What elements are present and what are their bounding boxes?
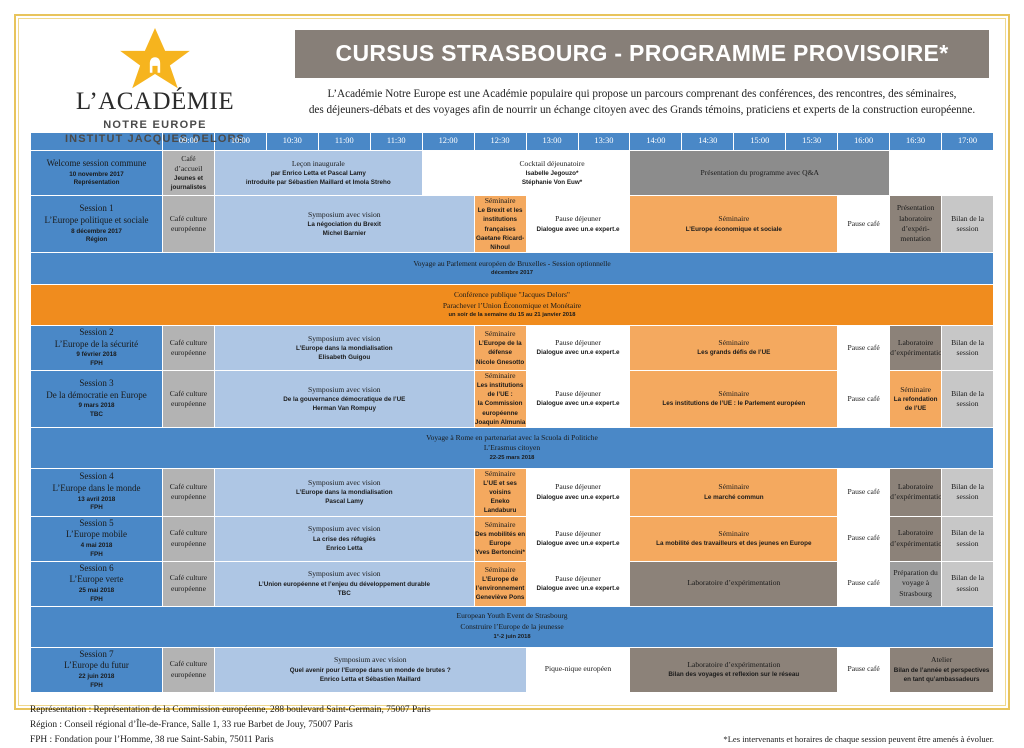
session-date: 9 février 2018	[31, 350, 162, 359]
activity-text-line: Pause déjeuner	[527, 574, 630, 584]
session-date: 8 décembre 2017	[31, 227, 162, 236]
activity-text-line: Symposium avec vision	[215, 385, 474, 395]
session-number: Session 5	[31, 518, 162, 530]
session-theme: L’Europe du futur	[31, 660, 162, 672]
activity-cell[interactable]: Café cultureeuropéenne	[163, 196, 215, 253]
activity-text-line: Préparation du voyage à	[890, 568, 941, 589]
activity-cell[interactable]: Leçon inauguralepar Enrico Letta et Pasc…	[214, 151, 422, 196]
activity-cell[interactable]: Présentationlaboratoired’expéri-mentatio…	[890, 196, 942, 253]
activity-cell[interactable]: Symposium avec visionL’Europe dans la mo…	[214, 325, 474, 370]
activity-text-line: européenne	[163, 348, 214, 358]
footer-line-3: FPH : Fondation pour l’Homme, 38 rue Sai…	[30, 733, 431, 748]
activity-text-line: L’Europe économique et sociale	[630, 225, 837, 234]
activity-text-line: Pause café	[838, 578, 889, 588]
banner-text-line: European Youth Event de Strasbourg	[31, 611, 993, 622]
session-number: Session 7	[31, 649, 162, 661]
activity-cell[interactable]: Laboratoired’expérimentation	[890, 468, 942, 516]
activity-text-line: européenne	[163, 492, 214, 502]
activity-text-line: Pause déjeuner	[527, 482, 630, 492]
activity-cell[interactable]: Présentation du programme avec Q&A	[630, 151, 890, 196]
activity-cell[interactable]: Pique-nique européen	[526, 647, 630, 692]
activity-text-line: Dialogue avec un.e expert.e	[527, 584, 630, 593]
footer-line-2: Région : Conseil régional d’Île-de-Franc…	[30, 718, 431, 733]
activity-text-line: Nicole Gnesotto	[475, 358, 526, 367]
activity-cell[interactable]: SéminaireL’Europe de la défenseNicole Gn…	[474, 325, 526, 370]
activity-text-line: TBC	[215, 589, 474, 598]
activity-text-line: Dialogue avec un.e expert.e	[527, 399, 630, 408]
activity-text-line: Le marché commun	[630, 493, 837, 502]
activity-text-line: Séminaire	[475, 469, 526, 479]
session-header-cell[interactable]: Session 7L’Europe du futur22 juin 2018FP…	[31, 647, 163, 692]
activity-text-line: Café culture	[163, 214, 214, 224]
activity-text-line: mentation	[890, 234, 941, 244]
activity-text-line: Des mobilités en Europe	[475, 530, 526, 548]
session-venue: Représentation	[31, 179, 162, 188]
banner-cell: European Youth Event de StrasbourgConstr…	[31, 606, 994, 647]
activity-text-line: Geneviève Pons	[475, 593, 526, 602]
activity-text-line: introduite par Sébastien Maillard et Imo…	[215, 178, 422, 187]
activity-text-line: Eneko Landaburu	[475, 497, 526, 515]
activity-cell[interactable]: Laboratoire d’expérimentationBilan des v…	[630, 647, 838, 692]
empty-cell	[890, 151, 994, 196]
activity-text-line: Séminaire	[630, 482, 837, 492]
activity-cell[interactable]: Café cultureeuropéenne	[163, 647, 215, 692]
activity-cell[interactable]: Symposium avec visionLa crise des réfugi…	[214, 516, 474, 561]
banner-text-line: Parachever l’Union Économique et Monétai…	[31, 301, 993, 312]
banner-text-line: 1°-2 juin 2018	[31, 633, 993, 642]
time-slot-header: 16:00	[838, 133, 890, 151]
activity-text-line: Bilan des voyages et reflexion sur le ré…	[630, 670, 837, 679]
activity-cell[interactable]: SéminaireDes mobilités en EuropeYves Ber…	[474, 516, 526, 561]
activity-text-line: Séminaire	[890, 385, 941, 395]
schedule-session-row: Session 5L’Europe mobile4 mai 2018FPHCaf…	[31, 516, 994, 561]
activity-cell[interactable]: SéminaireLa mobilité des travailleurs et…	[630, 516, 838, 561]
activity-text-line: Symposium avec vision	[215, 524, 474, 534]
activity-cell[interactable]: Pause déjeunerDialogue avec un.e expert.…	[526, 561, 630, 606]
session-date: 22 juin 2018	[31, 672, 162, 681]
activity-text-line: Pause déjeuner	[527, 214, 630, 224]
session-number: Session 4	[31, 471, 162, 483]
activity-text-line: Pascal Lamy	[215, 497, 474, 506]
activity-text-line: Pause café	[838, 343, 889, 353]
banner-text-line: décembre 2017	[31, 269, 993, 278]
intro-line-1: L’Académie Notre Europe est une Académie…	[300, 87, 984, 103]
schedule-session-row: Welcome session commune10 novembre 2017R…	[31, 151, 994, 196]
activity-text-line: Les grands défis de l’UE	[630, 348, 837, 357]
activity-text-line: la Commission européenne	[475, 399, 526, 417]
session-header-cell[interactable]: Session 5L’Europe mobile4 mai 2018FPH	[31, 516, 163, 561]
banner-text-line: Construire l’Europe de la jeunesse	[31, 622, 993, 633]
activity-text-line: d’expérimentation	[890, 348, 941, 358]
activity-cell[interactable]: Café cultureeuropéenne	[163, 561, 215, 606]
banner-cell: Conférence publique "Jacques Delors"Para…	[31, 284, 994, 325]
activity-text-line: La crise des réfugiés	[215, 535, 474, 544]
header-right: CURSUS STRASBOURG - PROGRAMME PROVISOIRE…	[280, 26, 994, 119]
time-slot-header: 12:30	[474, 133, 526, 151]
activity-text-line: Séminaire	[475, 371, 526, 381]
activity-cell[interactable]: Symposium avec visionDe la gouvernance d…	[214, 370, 474, 427]
session-header-cell[interactable]: Session 6L’Europe verte25 mai 2018FPH	[31, 561, 163, 606]
schedule-banner-row: Voyage à Rome en partenariat avec la Scu…	[31, 427, 994, 468]
activity-cell[interactable]: Café cultureeuropéenne	[163, 325, 215, 370]
session-date: 13 avril 2018	[31, 495, 162, 504]
activity-cell[interactable]: Pause déjeunerDialogue avec un.e expert.…	[526, 370, 630, 427]
footer-disclaimer: *Les intervenants et horaires de chaque …	[723, 733, 994, 748]
activity-text-line: L’Union européenne et l’enjeu du dévelop…	[215, 580, 474, 589]
activity-cell[interactable]: Laboratoired’expérimentation	[890, 325, 942, 370]
time-slot-header: 12:00	[422, 133, 474, 151]
activity-text-line: Dialogue avec un.e expert.e	[527, 493, 630, 502]
session-header-cell[interactable]: Session 2L’Europe de la sécurité9 févrie…	[31, 325, 163, 370]
activity-text-line: Bilan de la	[942, 573, 993, 583]
activity-text-line: Joaquin Almunia	[475, 418, 526, 427]
page-header: L’ACADÉMIE NOTRE EUROPE INSTITUT JACQUES…	[30, 26, 994, 126]
activity-text-line: Bilan de la	[942, 338, 993, 348]
banner-cell: Voyage à Rome en partenariat avec la Scu…	[31, 427, 994, 468]
activity-text-line: session	[942, 539, 993, 549]
banner-text-line: Voyage au Parlement européen de Bruxelle…	[31, 259, 993, 270]
activity-cell[interactable]: Café cultureeuropéenne	[163, 516, 215, 561]
session-header-cell[interactable]: Welcome session commune10 novembre 2017R…	[31, 151, 163, 196]
activity-text-line: Séminaire	[630, 529, 837, 539]
activity-cell[interactable]: Café cultureeuropéenne	[163, 370, 215, 427]
activity-cell[interactable]: Pause déjeunerDialogue avec un.e expert.…	[526, 516, 630, 561]
time-slot-header: 15:30	[786, 133, 838, 151]
banner-text-line: un soir de la semaine du 15 au 21 janvie…	[31, 311, 993, 320]
logo-subtitle-1: NOTRE EUROPE	[30, 119, 280, 131]
activity-text-line: européenne	[163, 584, 214, 594]
activity-text-line: La négociation du Brexit	[215, 220, 474, 229]
activity-text-line: Jeunes et	[163, 174, 214, 183]
activity-text-line: Dialogue avec un.e expert.e	[527, 225, 630, 234]
activity-cell[interactable]: Café cultureeuropéenne	[163, 468, 215, 516]
schedule-body: Welcome session commune10 novembre 2017R…	[31, 151, 994, 693]
activity-text-line: européenne	[163, 539, 214, 549]
activity-text-line: Bilan de la	[942, 214, 993, 224]
footer-line-1: Représentation : Représentation de la Co…	[30, 703, 431, 718]
activity-text-line: par Enrico Letta et Pascal Lamy	[215, 169, 422, 178]
activity-cell[interactable]: Caféd’accueilJeunes etjournalistes	[163, 151, 215, 196]
session-theme: L’Europe politique et sociale	[31, 215, 162, 227]
activity-text-line: européenne	[163, 224, 214, 234]
activity-text-line: Bilan de la	[942, 528, 993, 538]
activity-cell[interactable]: SéminaireLe Brexit et les institutionsfr…	[474, 196, 526, 253]
activity-text-line: La refondation de l’UE	[890, 395, 941, 413]
activity-cell[interactable]: AtelierBilan de l’année et perspectivese…	[890, 647, 994, 692]
activity-cell[interactable]: Pause café	[838, 325, 890, 370]
activity-text-line: Pique-nique européen	[527, 664, 630, 674]
activity-text-line: d’accueil	[163, 164, 214, 174]
activity-text-line: Stéphanie Von Euw*	[475, 178, 630, 187]
activity-text-line: L’Europe dans la mondialisation	[215, 488, 474, 497]
activity-cell[interactable]: Laboratoire d’expérimentation	[630, 561, 838, 606]
session-venue: FPH	[31, 504, 162, 513]
schedule-session-row: Session 2L’Europe de la sécurité9 févrie…	[31, 325, 994, 370]
activity-text-line: Séminaire	[475, 565, 526, 575]
activity-text-line: Séminaire	[630, 338, 837, 348]
activity-text-line: Laboratoire	[890, 482, 941, 492]
activity-text-line: Symposium avec vision	[215, 334, 474, 344]
activity-text-line: françaises	[475, 225, 526, 234]
activity-text-line: d’expérimentation	[890, 492, 941, 502]
page-footer: Représentation : Représentation de la Co…	[30, 703, 994, 748]
time-slot-header: 15:00	[734, 133, 786, 151]
activity-text-line: Leçon inaugurale	[215, 159, 422, 169]
activity-text-line: Pause déjeuner	[527, 338, 630, 348]
activity-text-line: Enrico Letta	[215, 544, 474, 553]
activity-text-line: Elisabeth Guigou	[215, 353, 474, 362]
intro-paragraph: L’Académie Notre Europe est une Académie…	[290, 87, 994, 119]
session-header-cell[interactable]: Session 4L’Europe dans le monde13 avril …	[31, 468, 163, 516]
activity-text-line: Présentation du programme avec Q&A	[630, 168, 889, 178]
activity-text-line: Séminaire	[630, 389, 837, 399]
session-date: 10 novembre 2017	[31, 170, 162, 179]
activity-text-line: d’expéri-	[890, 224, 941, 234]
activity-text-line: Café culture	[163, 573, 214, 583]
activity-text-line: Présentation	[890, 203, 941, 213]
schedule-session-row: Session 6L’Europe verte25 mai 2018FPHCaf…	[31, 561, 994, 606]
activity-cell[interactable]: Pause café	[838, 196, 890, 253]
activity-text-line: session	[942, 224, 993, 234]
activity-text-line: Symposium avec vision	[215, 655, 526, 665]
activity-text-line: Symposium avec vision	[215, 569, 474, 579]
activity-text-line: Enrico Letta et Sébastien Maillard	[215, 675, 526, 684]
schedule-session-row: Session 4L’Europe dans le monde13 avril …	[31, 468, 994, 516]
activity-text-line: Symposium avec vision	[215, 478, 474, 488]
activity-text-line: Dialogue avec un.e expert.e	[527, 348, 630, 357]
activity-text-line: La mobilité des travailleurs et des jeun…	[630, 539, 837, 548]
activity-text-line: Séminaire	[475, 196, 526, 206]
session-date: 9 mars 2018	[31, 401, 162, 410]
activity-cell[interactable]: Bilan de lasession	[942, 196, 994, 253]
activity-cell[interactable]: Bilan de lasession	[942, 370, 994, 427]
activity-cell[interactable]: SéminaireL’UE et ses voisinsEneko Landab…	[474, 468, 526, 516]
time-slot-header: 14:00	[630, 133, 682, 151]
activity-text-line: Bilan de l’année et perspectives	[890, 666, 993, 675]
activity-text-line: Les institutions de l’UE :	[475, 381, 526, 399]
activity-text-line: laboratoire	[890, 214, 941, 224]
session-venue: FPH	[31, 360, 162, 369]
activity-text-line: L’UE et ses voisins	[475, 479, 526, 497]
activity-cell[interactable]: Pause déjeunerDialogue avec un.e expert.…	[526, 325, 630, 370]
activity-cell[interactable]: Pause café	[838, 370, 890, 427]
activity-cell[interactable]: SéminaireLes grands défis de l’UE	[630, 325, 838, 370]
time-slot-header: 17:00	[942, 133, 994, 151]
activity-text-line: Pause café	[838, 487, 889, 497]
schedule-session-row: Session 7L’Europe du futur22 juin 2018FP…	[31, 647, 994, 692]
activity-text-line: L’Europe de l’environnement	[475, 575, 526, 593]
activity-text-line: Le Brexit et les institutions	[475, 206, 526, 224]
banner-cell: Voyage au Parlement européen de Bruxelle…	[31, 252, 994, 284]
activity-text-line: Michel Barnier	[215, 229, 474, 238]
session-theme: L’Europe dans le monde	[31, 483, 162, 495]
page-title: CURSUS STRASBOURG - PROGRAMME PROVISOIRE…	[295, 30, 989, 78]
activity-text-line: Pause déjeuner	[527, 529, 630, 539]
session-theme: De la démocratie en Europe	[31, 390, 162, 402]
session-number: Session 1	[31, 203, 162, 215]
activity-text-line: Quel avenir pour l’Europe dans un monde …	[215, 666, 526, 675]
activity-cell[interactable]: Pause café	[838, 561, 890, 606]
schedule-table: 09:0010:0010:3011:0011:3012:0012:3013:00…	[30, 132, 994, 693]
activity-text-line: session	[942, 584, 993, 594]
activity-text-line: Laboratoire	[890, 338, 941, 348]
activity-text-line: Laboratoire d’expérimentation	[630, 578, 837, 588]
footer-venues: Représentation : Représentation de la Co…	[30, 703, 431, 748]
activity-cell[interactable]: Bilan de lasession	[942, 516, 994, 561]
activity-cell[interactable]: Symposium avec visionL’Union européenne …	[214, 561, 474, 606]
empty-cell	[422, 151, 474, 196]
activity-cell[interactable]: Pause café	[838, 516, 890, 561]
activity-text-line: Pause café	[838, 533, 889, 543]
session-number: Welcome session commune	[31, 158, 162, 170]
banner-text-line: 22-25 mars 2018	[31, 454, 993, 463]
session-number: Session 2	[31, 327, 162, 339]
activity-text-line: Séminaire	[475, 329, 526, 339]
activity-text-line: Pause déjeuner	[527, 389, 630, 399]
banner-text-line: Voyage à Rome en partenariat avec la Scu…	[31, 433, 993, 444]
time-slot-header: 11:30	[370, 133, 422, 151]
time-slot-header: 14:30	[682, 133, 734, 151]
banner-text-line: L’Erasmus citoyen	[31, 443, 993, 454]
activity-text-line: Café culture	[163, 389, 214, 399]
schedule-session-row: Session 1L’Europe politique et sociale8 …	[31, 196, 994, 253]
activity-text-line: Pause café	[838, 219, 889, 229]
activity-text-line: Atelier	[890, 655, 993, 665]
activity-text-line: journalistes	[163, 183, 214, 192]
session-number: Session 6	[31, 563, 162, 575]
star-icon	[112, 28, 198, 90]
session-date: 25 mai 2018	[31, 586, 162, 595]
activity-text-line: Bilan de la	[942, 482, 993, 492]
activity-cell[interactable]: Bilan de lasession	[942, 561, 994, 606]
activity-text-line: Séminaire	[475, 520, 526, 530]
activity-text-line: Pause café	[838, 664, 889, 674]
activity-cell[interactable]: SéminaireLes institutions de l’UE :la Co…	[474, 370, 526, 427]
activity-cell[interactable]: SéminaireLa refondation de l’UE	[890, 370, 942, 427]
session-venue: TBC	[31, 411, 162, 420]
session-venue: FPH	[31, 551, 162, 560]
activity-text-line: Isabelle Jegouzo*	[475, 169, 630, 178]
activity-text-line: Café	[163, 154, 214, 164]
activity-text-line: session	[942, 399, 993, 409]
activity-text-line: Café culture	[163, 482, 214, 492]
activity-cell[interactable]: Cocktail déjeunatoireIsabelle Jegouzo*St…	[474, 151, 630, 196]
activity-text-line: d’expérimentation	[890, 539, 941, 549]
time-slot-header: 11:00	[318, 133, 370, 151]
activity-cell[interactable]: Symposium avec visionQuel avenir pour l’…	[214, 647, 526, 692]
activity-cell[interactable]: SéminaireL’Europe de l’environnementGene…	[474, 561, 526, 606]
activity-text-line: Dialogue avec un.e expert.e	[527, 539, 630, 548]
activity-text-line: européenne	[163, 670, 214, 680]
logo: L’ACADÉMIE NOTRE EUROPE INSTITUT JACQUES…	[30, 26, 280, 145]
activity-cell[interactable]: Pause déjeunerDialogue avec un.e expert.…	[526, 196, 630, 253]
activity-text-line: Cocktail déjeunatoire	[475, 159, 630, 169]
activity-cell[interactable]: Bilan de lasession	[942, 325, 994, 370]
activity-text-line: européenne	[163, 399, 214, 409]
activity-cell[interactable]: Préparation du voyage àStrasbourg	[890, 561, 942, 606]
session-date: 4 mai 2018	[31, 541, 162, 550]
session-theme: L’Europe mobile	[31, 529, 162, 541]
activity-text-line: L’Europe de la défense	[475, 339, 526, 357]
session-venue: FPH	[31, 596, 162, 605]
session-venue: FPH	[31, 682, 162, 691]
session-theme: L’Europe de la sécurité	[31, 339, 162, 351]
session-number: Session 3	[31, 378, 162, 390]
activity-text-line: Strasbourg	[890, 589, 941, 599]
logo-title: L’ACADÉMIE	[30, 88, 280, 116]
activity-text-line: Séminaire	[630, 214, 837, 224]
time-slot-header: 16:30	[890, 133, 942, 151]
activity-text-line: Herman Van Rompuy	[215, 404, 474, 413]
activity-text-line: Symposium avec vision	[215, 210, 474, 220]
activity-text-line: session	[942, 348, 993, 358]
activity-cell[interactable]: SéminaireLes institutions de l’UE : le P…	[630, 370, 838, 427]
schedule-session-row: Session 3De la démocratie en Europe9 mar…	[31, 370, 994, 427]
session-venue: Région	[31, 236, 162, 245]
page-content: L’ACADÉMIE NOTRE EUROPE INSTITUT JACQUES…	[30, 26, 994, 704]
activity-text-line: Yves Bertoncini*	[475, 548, 526, 557]
activity-text-line: L’Europe dans la mondialisation	[215, 344, 474, 353]
session-header-cell[interactable]: Session 1L’Europe politique et sociale8 …	[31, 196, 163, 253]
activity-text-line: Café culture	[163, 528, 214, 538]
activity-text-line: Gaetane Ricard-Nihoul	[475, 234, 526, 252]
schedule-banner-row: Voyage au Parlement européen de Bruxelle…	[31, 252, 994, 284]
banner-text-line: Conférence publique "Jacques Delors"	[31, 290, 993, 301]
activity-text-line: Laboratoire d’expérimentation	[630, 660, 837, 670]
session-header-cell[interactable]: Session 3De la démocratie en Europe9 mar…	[31, 370, 163, 427]
activity-text-line: Pause café	[838, 394, 889, 404]
activity-text-line: en tant qu’ambassadeurs	[890, 675, 993, 684]
activity-text-line: Les institutions de l’UE : le Parlement …	[630, 399, 837, 408]
activity-cell[interactable]: Pause café	[838, 647, 890, 692]
activity-text-line: De la gouvernance démocratique de l’UE	[215, 395, 474, 404]
programme-page: L’ACADÉMIE NOTRE EUROPE INSTITUT JACQUES…	[0, 0, 1024, 724]
activity-cell[interactable]: Symposium avec visionLa négociation du B…	[214, 196, 474, 253]
session-theme: L’Europe verte	[31, 574, 162, 586]
activity-cell[interactable]: Pause déjeunerDialogue avec un.e expert.…	[526, 468, 630, 516]
schedule-banner-row: European Youth Event de StrasbourgConstr…	[31, 606, 994, 647]
activity-text-line: session	[942, 492, 993, 502]
time-slot-header: 13:30	[578, 133, 630, 151]
time-slot-header: 13:00	[526, 133, 578, 151]
activity-cell[interactable]: SéminaireL’Europe économique et sociale	[630, 196, 838, 253]
activity-text-line: Bilan de la	[942, 389, 993, 399]
activity-cell[interactable]: Laboratoired’expérimentation	[890, 516, 942, 561]
activity-text-line: Café culture	[163, 659, 214, 669]
activity-cell[interactable]: Pause café	[838, 468, 890, 516]
activity-cell[interactable]: SéminaireLe marché commun	[630, 468, 838, 516]
activity-cell[interactable]: Symposium avec visionL’Europe dans la mo…	[214, 468, 474, 516]
activity-text-line: Laboratoire	[890, 528, 941, 538]
activity-text-line: Café culture	[163, 338, 214, 348]
activity-cell[interactable]: Bilan de lasession	[942, 468, 994, 516]
intro-line-2: des déjeuners-débats et des voyages afin…	[300, 103, 984, 119]
schedule-banner-row: Conférence publique "Jacques Delors"Para…	[31, 284, 994, 325]
